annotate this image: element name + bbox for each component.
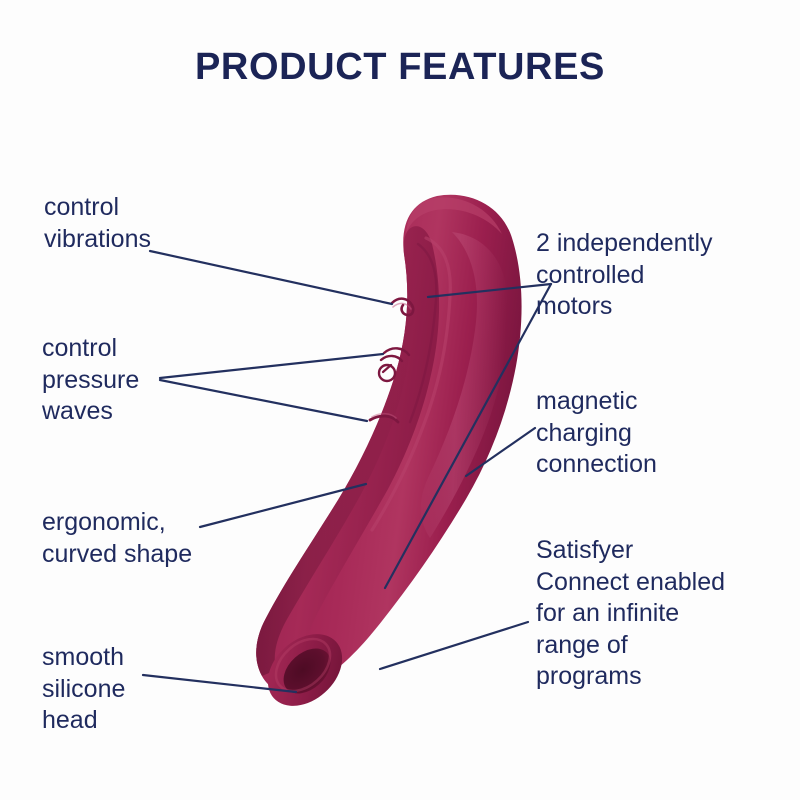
product-features-infographic: PRODUCT FEATURES [0, 0, 800, 800]
callout-two-motors: 2 independently controlled motors [536, 228, 713, 323]
callout-control-vibrations: control vibrations [44, 192, 151, 255]
product-body [256, 195, 521, 693]
callout-control-pressure-waves: control pressure waves [42, 333, 139, 428]
callout-smooth-silicone-head: smooth silicone head [42, 642, 125, 737]
callout-ergonomic-curved-shape: ergonomic, curved shape [42, 507, 192, 570]
callout-satisfyer-connect: Satisfyer Connect enabled for an infinit… [536, 535, 725, 693]
callout-magnetic-charging: magnetic charging connection [536, 386, 657, 481]
